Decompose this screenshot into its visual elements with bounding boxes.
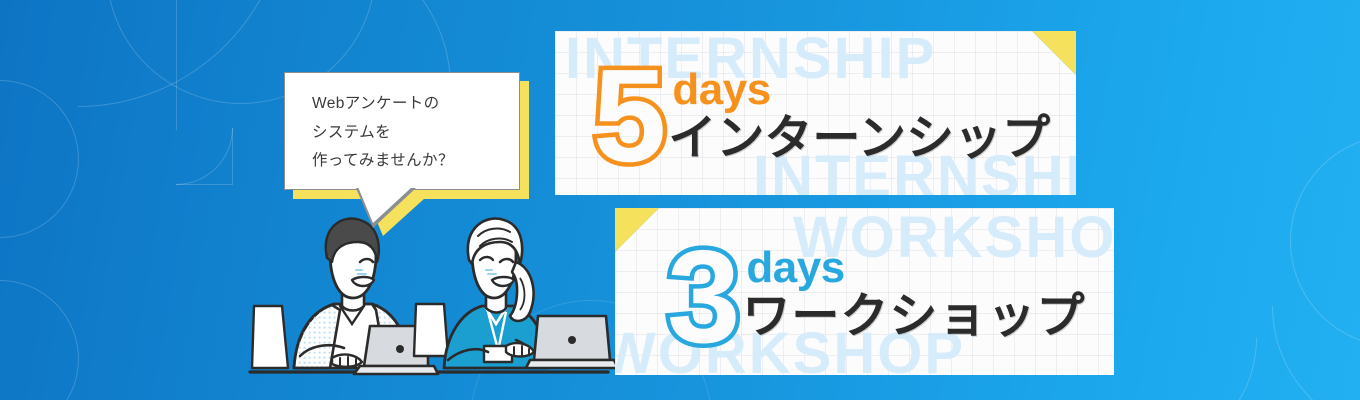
laptop-right [526, 316, 618, 368]
deco-rect-mid [176, 128, 233, 185]
card-internship-unit: days [672, 68, 1050, 112]
card-workshop-number-fill: 3 [667, 240, 738, 354]
card-internship-number-fill: 5 [593, 59, 664, 173]
card-internship-title: インターンシップ [668, 114, 1050, 165]
card-workshop-number: 3 3 [667, 240, 738, 354]
students-illustration [248, 206, 620, 386]
female-student [414, 219, 548, 368]
deco-semicircle-left-bottom [0, 280, 79, 400]
deco-quarter-bottom-right [1136, 338, 1257, 400]
card-internship-number: 5 5 [593, 59, 664, 173]
card-internship-text: days インターンシップ [668, 68, 1050, 165]
deco-quarter-mid-left [176, 128, 233, 185]
card-workshop[interactable]: WORKSHOP WORKSHOP 3 3 days ワークショップ [615, 208, 1114, 375]
card-internship-body: 5 5 days インターンシップ [555, 31, 1076, 195]
card-workshop-body: 3 3 days ワークショップ [615, 208, 1114, 375]
card-internship-fold-corner [1032, 31, 1076, 75]
speech-bubble-tail [358, 187, 412, 223]
deco-semicircle-right-mid [1290, 135, 1360, 347]
card-workshop-unit: days [746, 246, 1085, 290]
card-internship[interactable]: INTERNSHIP INTERNSHIP 5 5 days インターンシップ [555, 31, 1076, 195]
deco-quarter-top-left [78, 0, 287, 107]
card-workshop-text: days ワークショップ [742, 246, 1085, 343]
deco-vline-left [176, 0, 177, 130]
card-workshop-title: ワークショップ [742, 292, 1085, 343]
deco-quarter-bottom-far-right [1272, 306, 1360, 400]
internship-banner: Webアンケートの システムを 作ってみませんか？ [0, 0, 1360, 400]
card-workshop-fold-corner [615, 208, 659, 252]
speech-bubble-text: Webアンケートの システムを 作ってみませんか？ [284, 72, 520, 176]
deco-semicircle-left-top [0, 80, 79, 238]
speech-bubble: Webアンケートの システムを 作ってみませんか？ [284, 72, 520, 190]
